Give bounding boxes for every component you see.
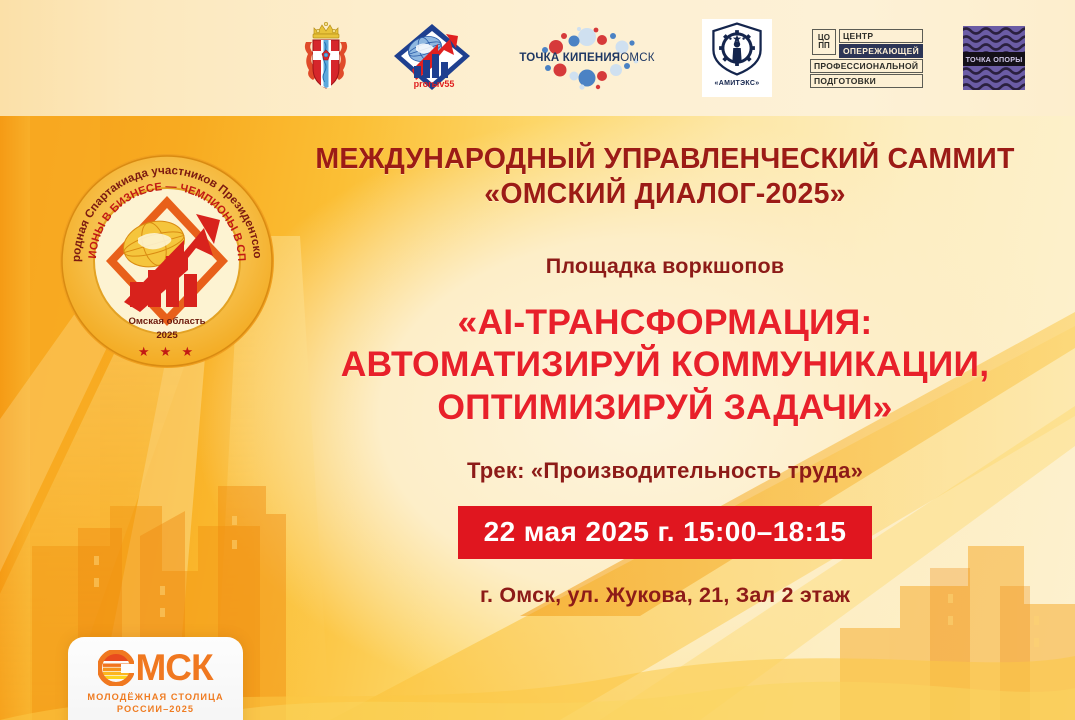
wave-pattern-icon: ТОЧКА ОПОРЫ <box>963 26 1025 90</box>
copp-line-1: ЦЕНТР <box>839 29 923 43</box>
copp-mark-icon: ЦО ПП <box>812 29 836 55</box>
copp-line-4: ПОДГОТОВКИ <box>810 74 923 88</box>
sponsor-logo-band: prorыv55 <box>0 0 1075 116</box>
poster-content: МЕЖДУНАРОДНЫЙ УПРАВЛЕНЧЕСКИЙ САММИТ «ОМС… <box>255 116 1075 720</box>
logo-tochka-kipeniya-omsk: ТОЧКА КИПЕНИЯОМСК <box>512 21 662 95</box>
omsk-sunrise-icon <box>98 650 134 686</box>
venue-address: г. Омск, ул. Жукова, 21, Зал 2 этаж <box>480 583 850 608</box>
tochka-kipeniya-city: ОМСК <box>620 52 654 64</box>
event-headline: «AI-ТРАНСФОРМАЦИЯ: АВТОМАТИЗИРУЙ КОММУНИ… <box>341 301 990 429</box>
logo-omsk-oblast-coat-of-arms <box>300 20 352 96</box>
emblem-region: Омская область <box>128 316 205 327</box>
tochka-opory-label: ТОЧКА ОПОРЫ <box>966 55 1023 64</box>
summit-title-line-2: «ОМСКИЙ ДИАЛОГ-2025» <box>315 177 1014 212</box>
tochka-kipeniya-label: ТОЧКА КИПЕНИЯ <box>519 52 620 64</box>
copp-line-2: ОПЕРЕЖАЮЩЕЙ <box>839 44 923 58</box>
omsk-tagline-line-1: МОЛОДЁЖНАЯ СТОЛИЦА <box>87 692 223 702</box>
track-label: Трек: «Производительность труда» <box>467 458 863 484</box>
copp-mark-bottom: ПП <box>818 42 830 50</box>
omsk-wordmark: МСК <box>98 649 212 686</box>
date-time-badge: 22 мая 2025 г. 15:00–18:15 <box>458 506 873 559</box>
headline-line-3: ОПТИМИЗИРУЙ ЗАДАЧИ» <box>341 386 990 429</box>
logo-copp: ЦО ПП ЦЕНТР ОПЕРЕЖАЮЩЕЙ ПРОФЕССИОНАЛЬНОЙ… <box>812 29 923 88</box>
summit-title: МЕЖДУНАРОДНЫЙ УПРАВЛЕНЧЕСКИЙ САММИТ «ОМС… <box>315 142 1014 212</box>
omsk-letters: МСК <box>135 649 212 686</box>
spartakiada-emblem: XVI Международная Спартакиада участников… <box>58 152 276 370</box>
prorыv55-wordmark: prorыv55 <box>414 79 455 89</box>
logo-amiteks: «АМИТЭКС» <box>702 19 772 97</box>
emblem-year: 2025 <box>156 330 178 341</box>
workshop-subtitle: Площадка воркшопов <box>546 254 785 279</box>
emblem-stars: ★ ★ ★ <box>138 345 196 360</box>
logo-tochka-opory: ТОЧКА ОПОРЫ <box>963 26 1025 90</box>
omsk-youth-capital-logo: МСК МОЛОДЁЖНАЯ СТОЛИЦА РОССИИ–2025 <box>68 637 243 720</box>
copp-line-3: ПРОФЕССИОНАЛЬНОЙ <box>810 59 923 73</box>
poster-canvas: prorыv55 <box>0 0 1075 720</box>
logo-prorыv55: prorыv55 <box>392 22 472 94</box>
headline-line-1: «AI-ТРАНСФОРМАЦИЯ: <box>341 301 990 344</box>
shield-gear-icon <box>704 19 770 79</box>
amiteks-label: «АМИТЭКС» <box>715 80 760 87</box>
omsk-tagline-line-2: РОССИИ–2025 <box>117 704 194 714</box>
headline-line-2: АВТОМАТИЗИРУЙ КОММУНИКАЦИИ, <box>341 343 990 386</box>
prorыv55-icon: prorыv55 <box>392 22 472 94</box>
summit-title-line-1: МЕЖДУНАРОДНЫЙ УПРАВЛЕНЧЕСКИЙ САММИТ <box>315 142 1014 177</box>
coat-of-arms-icon <box>300 20 352 96</box>
